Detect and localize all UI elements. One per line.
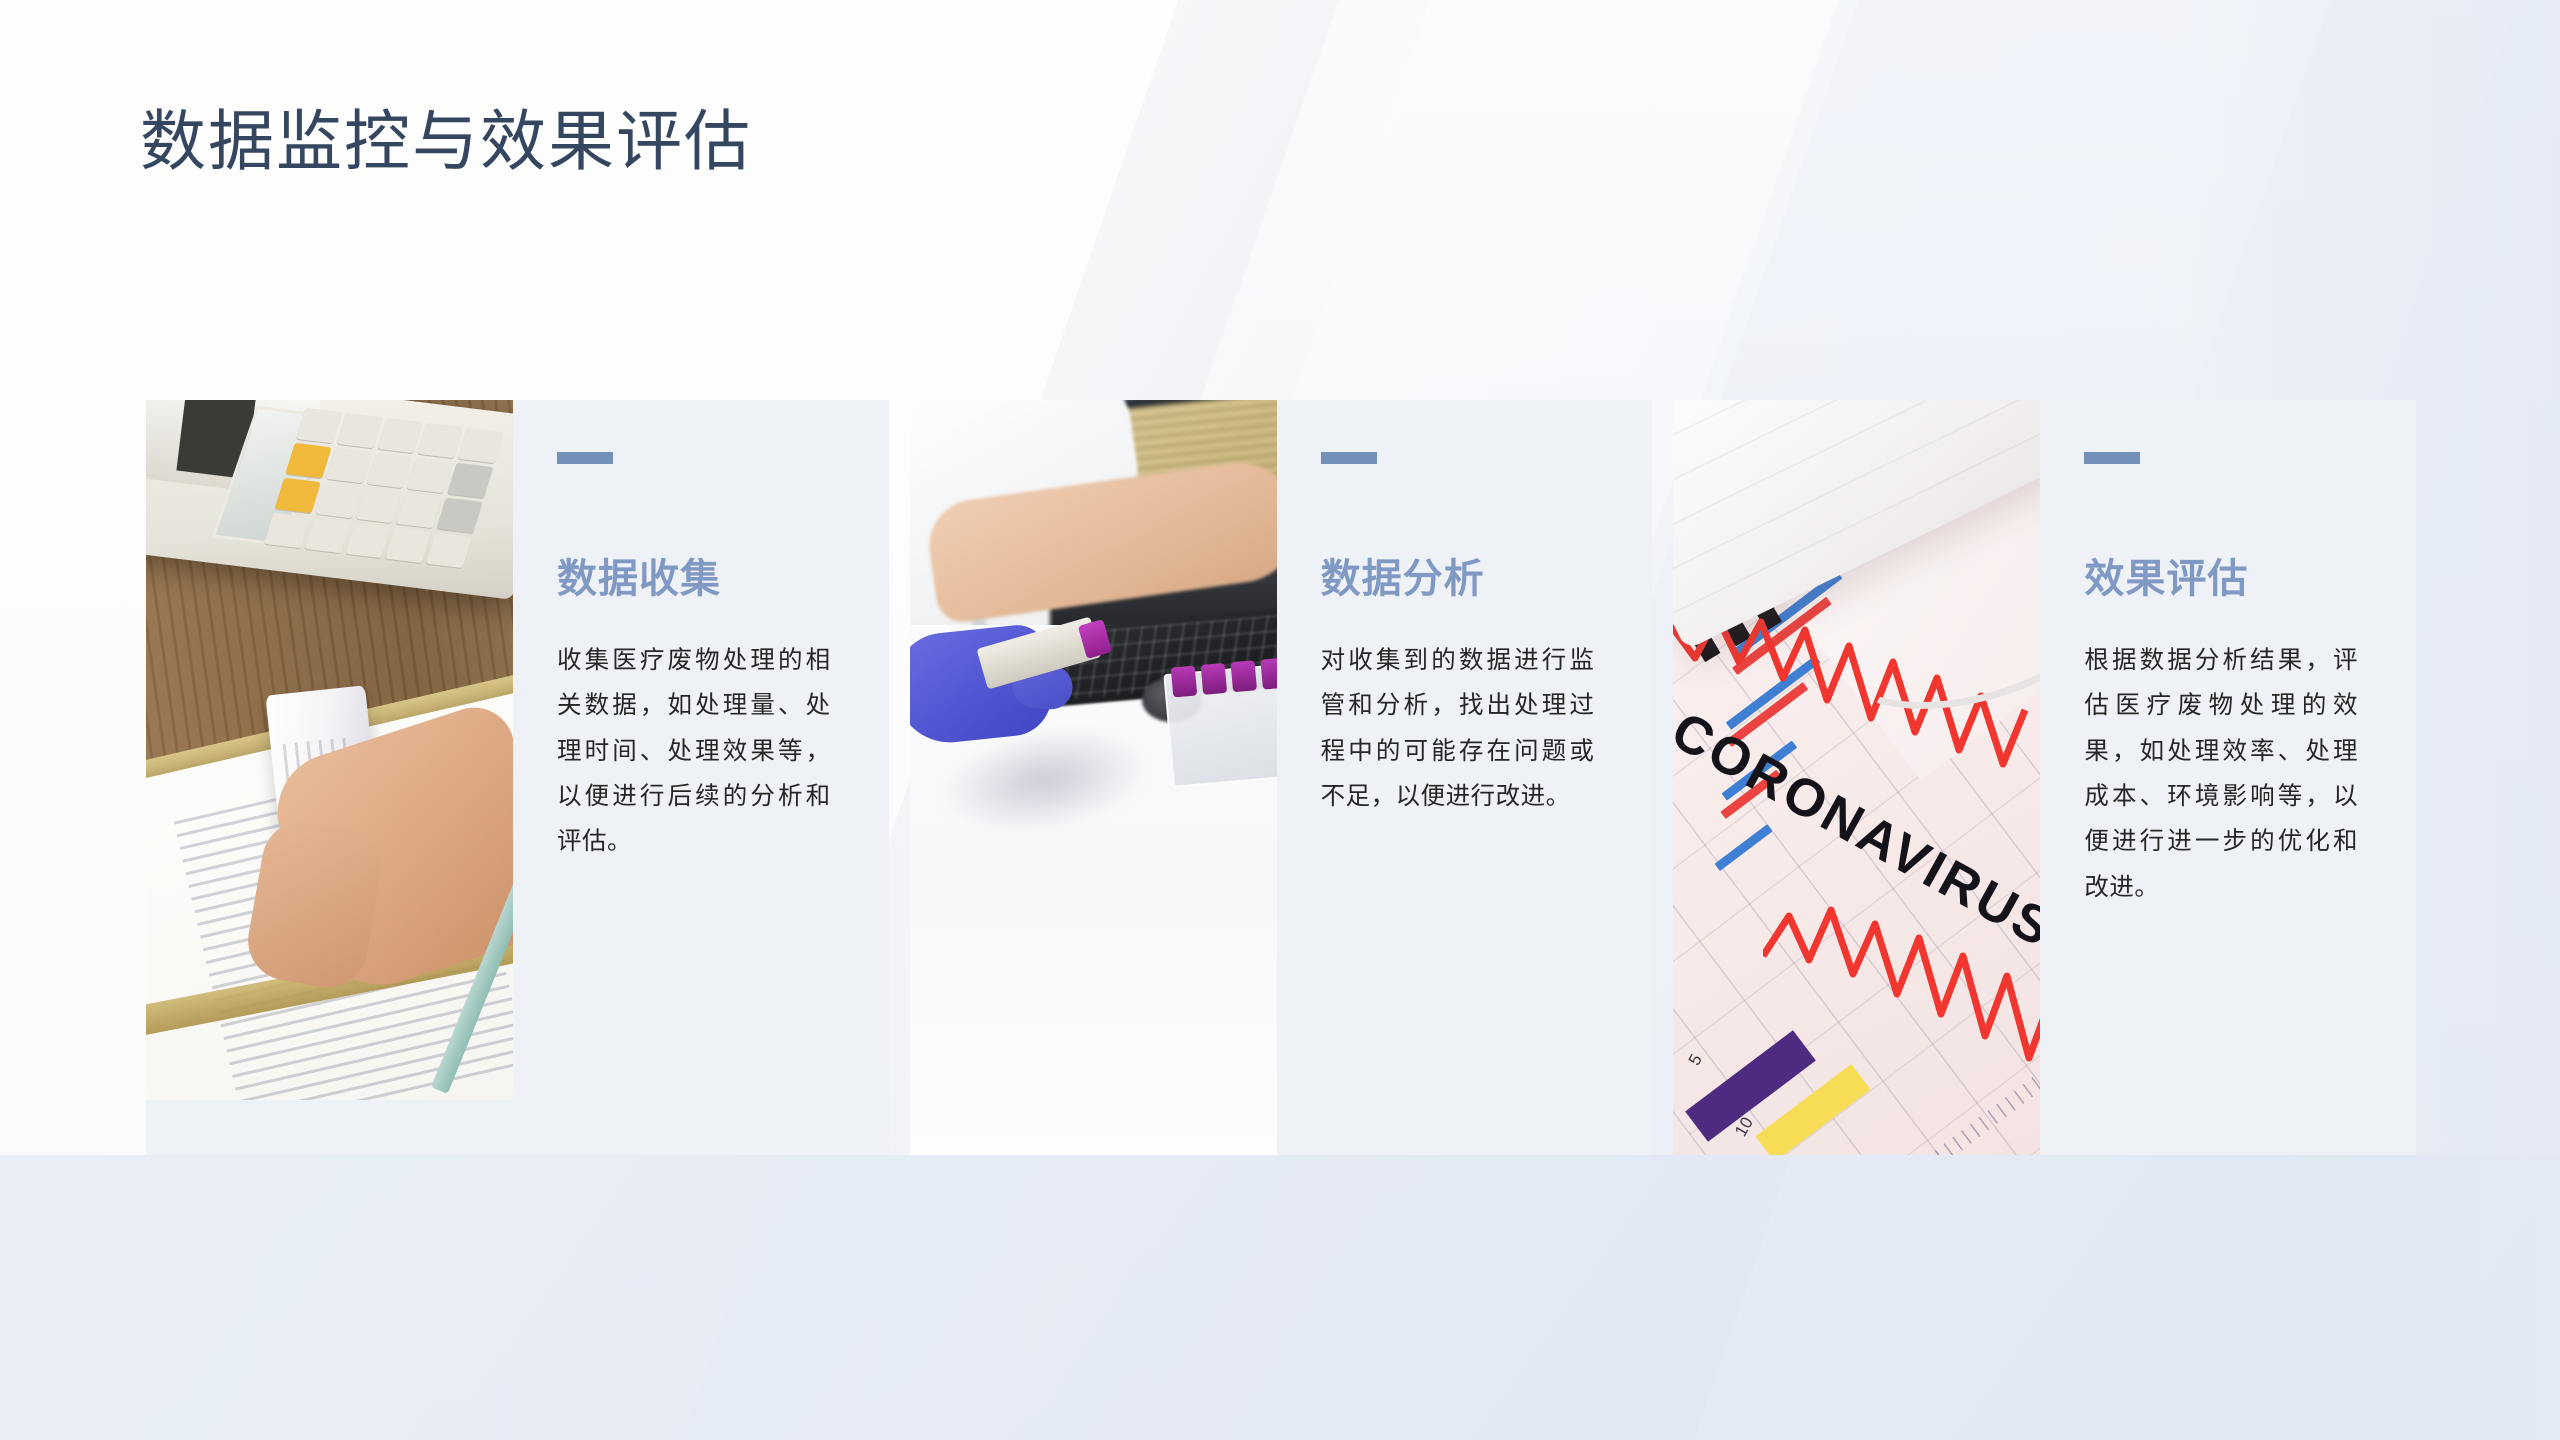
desk-calculator-receipt-photo bbox=[146, 400, 513, 1100]
page-title: 数据监控与效果评估 bbox=[140, 108, 752, 177]
accent-bar bbox=[1321, 452, 1377, 464]
card-effect-evaluation: CORONAVIRUS 5 10 效果评估 根据数据分析结果，评估医疗废物处理的… bbox=[1673, 400, 2416, 1155]
card-description: 对收集到的数据进行监管和分析，找出处理过程中的可能存在问题或不足，以便进行改进。 bbox=[1321, 638, 1595, 819]
laboratory-technician-photo bbox=[910, 400, 1277, 1155]
accent-bar bbox=[2084, 452, 2140, 464]
accent-bar bbox=[557, 452, 613, 464]
card-data-collection: 数据收集 收集医疗废物处理的相关数据，如处理量、处理时间、处理效果等，以便进行后… bbox=[146, 400, 889, 1155]
card-heading: 数据收集 bbox=[557, 546, 831, 604]
cards-row: 数据收集 收集医疗废物处理的相关数据，如处理量、处理时间、处理效果等，以便进行后… bbox=[146, 400, 2416, 1155]
background-bottom-parallelogram-2 bbox=[1648, 1155, 2560, 1440]
card-heading: 数据分析 bbox=[1321, 546, 1595, 604]
card-description: 根据数据分析结果，评估医疗废物处理的效果，如处理效率、处理成本、环境影响等，以便… bbox=[2084, 638, 2358, 910]
card-body-data-analysis: 数据分析 对收集到的数据进行监管和分析，找出处理过程中的可能存在问题或不足，以便… bbox=[1277, 400, 1653, 1155]
card-body-effect-evaluation: 效果评估 根据数据分析结果，评估医疗废物处理的效果，如处理效率、处理成本、环境影… bbox=[2040, 400, 2416, 1155]
calculator-keypad bbox=[264, 408, 504, 568]
card-data-analysis: 数据分析 对收集到的数据进行监管和分析，找出处理过程中的可能存在问题或不足，以便… bbox=[910, 400, 1653, 1155]
test-tube-rack bbox=[1163, 662, 1277, 788]
card-heading: 效果评估 bbox=[2084, 546, 2358, 604]
card-body-data-collection: 数据收集 收集医疗废物处理的相关数据，如处理量、处理时间、处理效果等，以便进行后… bbox=[513, 400, 889, 1155]
slide-canvas: 数据监控与效果评估 bbox=[0, 0, 2560, 1440]
card-description: 收集医疗废物处理的相关数据，如处理量、处理时间、处理效果等，以便进行后续的分析和… bbox=[557, 638, 831, 865]
background-bottom-parallelogram bbox=[0, 1155, 2372, 1440]
coronavirus-chart-photo: CORONAVIRUS 5 10 bbox=[1673, 400, 2040, 1155]
